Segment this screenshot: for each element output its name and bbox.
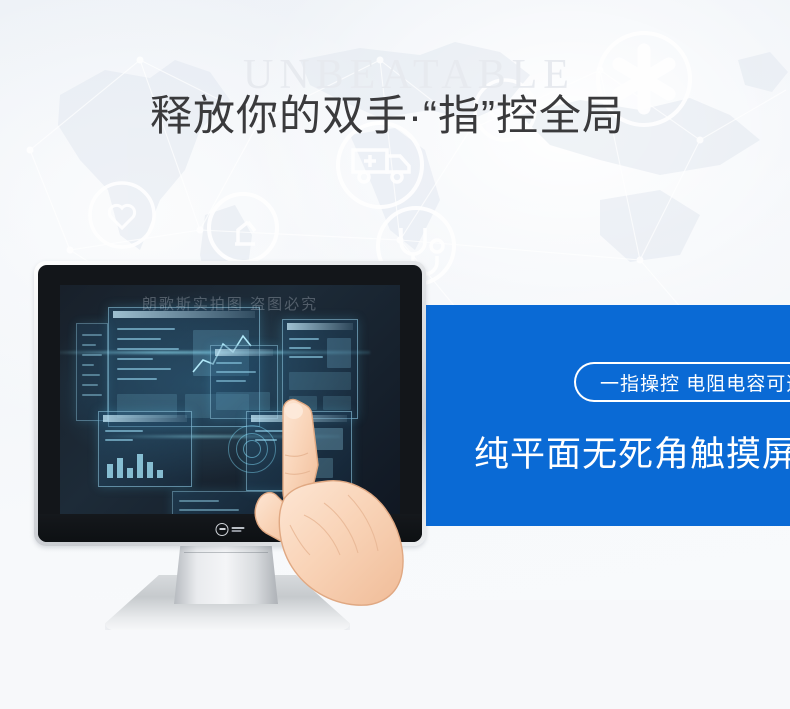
screen-watermark-text: 朗歌斯实拍图 盗图必究 — [142, 293, 318, 314]
feature-badge: 一指操控 电阻电容可选 — [574, 362, 790, 402]
feature-heading: 纯平面无死角触摸屏幕 — [474, 426, 790, 477]
brand-logo-wordmark — [232, 527, 245, 532]
holo-window-lower-left — [98, 411, 192, 487]
pointing-hand-illustration — [252, 395, 422, 610]
promo-poster: UNBEATABLE 释放你的双手·“指”控全局 一指操控 电阻电容可选 纯平面… — [0, 0, 790, 709]
heart-icon — [90, 183, 154, 247]
brand-logo-mark — [216, 523, 229, 536]
blue-feature-panel: 一指操控 电阻电容可选 纯平面无死角触摸屏幕 — [410, 305, 790, 526]
feature-badge-label: 一指操控 电阻电容可选 — [600, 369, 790, 396]
microscope-icon — [209, 194, 277, 262]
brand-logo — [216, 523, 245, 536]
page-title: 释放你的双手·“指”控全局 — [150, 92, 625, 139]
holo-sidebar-strip — [76, 323, 108, 421]
